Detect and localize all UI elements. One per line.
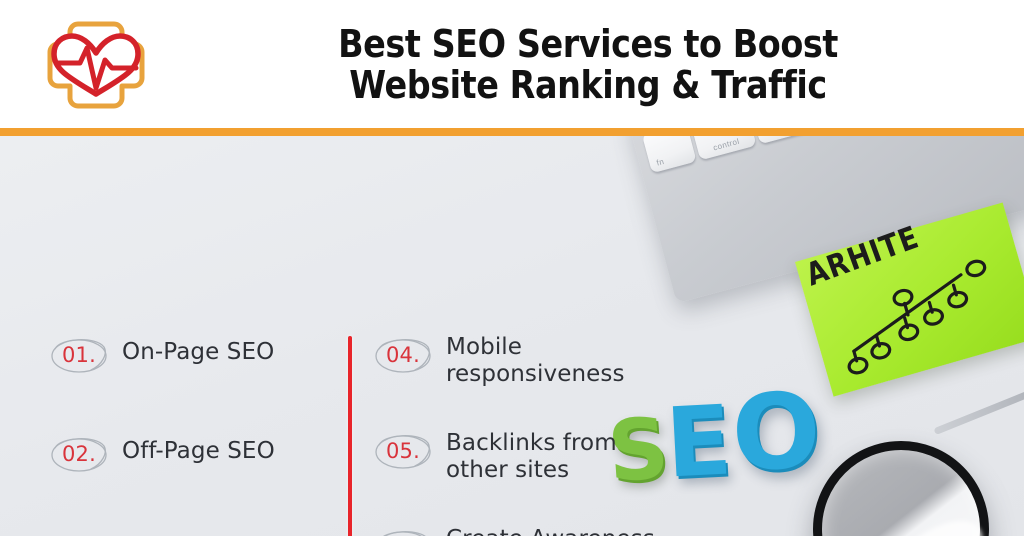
seo-letter-o: O	[730, 378, 822, 485]
list-item[interactable]: 05. Backlinks from other sites	[372, 428, 672, 484]
list-item[interactable]: 01. On-Page SEO	[48, 332, 348, 378]
page-title: Best SEO Services to Boost Website Ranki…	[268, 24, 908, 106]
number-badge: 02.	[48, 431, 110, 477]
item-number: 02.	[62, 442, 96, 466]
service-list-right: 04. Mobile responsiveness 05. Backlinks …	[372, 332, 672, 536]
heart-cross-medical-logo	[42, 8, 150, 120]
column-divider	[348, 336, 352, 536]
item-number: 05.	[386, 439, 420, 463]
seo-letter-e: E	[664, 392, 735, 491]
item-label: Technical SEO	[110, 530, 283, 536]
item-number: 01.	[62, 343, 96, 367]
list-item[interactable]: 03. Technical SEO	[48, 530, 348, 536]
item-label: On-Page SEO	[110, 332, 274, 366]
header-bar: Best SEO Services to Boost Website Ranki…	[0, 0, 1024, 128]
number-badge: 03.	[48, 530, 110, 536]
number-badge: 01.	[48, 332, 110, 378]
magnifying-glass-icon	[813, 441, 1024, 536]
service-list-left: 01. On-Page SEO 02. Off-Page SEO	[48, 332, 348, 536]
number-badge: 04.	[372, 332, 434, 378]
list-item[interactable]: 02. Off-Page SEO	[48, 431, 348, 477]
infographic-canvas: Best SEO Services to Boost Website Ranki…	[0, 0, 1024, 536]
pen-object	[933, 380, 1024, 435]
item-label: Mobile responsiveness	[434, 332, 672, 388]
logo-svg	[42, 8, 150, 120]
orange-accent-bar	[0, 128, 1024, 136]
content-area: fn control option 1 B	[0, 136, 1024, 536]
item-label: Backlinks from other sites	[434, 428, 672, 484]
item-label: Create Awareness on Social Media	[434, 524, 672, 536]
magnifier-lens	[813, 441, 989, 536]
item-number: 04.	[386, 343, 420, 367]
number-badge: 06.	[372, 524, 434, 536]
magnifier-highlight	[873, 505, 996, 536]
list-item[interactable]: 06. Create Awareness on Social Media	[372, 524, 672, 536]
number-badge: 05.	[372, 428, 434, 474]
list-item[interactable]: 04. Mobile responsiveness	[372, 332, 672, 388]
title-line-1: Best SEO Services to Boost	[306, 24, 869, 65]
item-label: Off-Page SEO	[110, 431, 275, 465]
scribble-ellipse-icon	[48, 530, 110, 536]
title-line-2: Website Ranking & Traffic	[306, 65, 869, 106]
